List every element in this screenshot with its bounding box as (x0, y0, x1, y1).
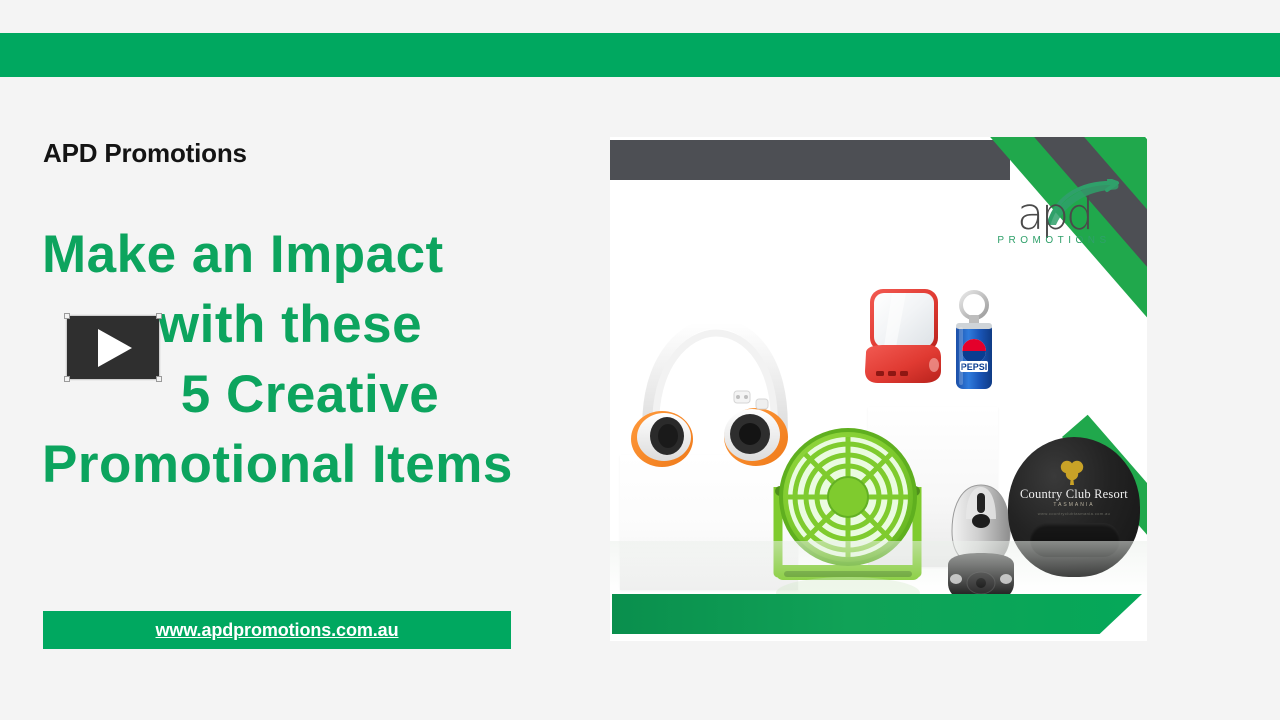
mouse-pad-product-image: Country Club Resort TASMANIA www.country… (1008, 437, 1147, 587)
play-triangle-icon (98, 329, 132, 367)
top-green-banner (0, 33, 1280, 77)
headline-line-1: Make an Impact (0, 220, 560, 290)
product-image-panel: apd PROMOTIONS (610, 137, 1147, 641)
website-url-bar[interactable]: www.apdpromotions.com.au (43, 611, 511, 649)
website-url-text[interactable]: www.apdpromotions.com.au (156, 620, 399, 641)
selection-handle-top-left[interactable] (64, 313, 70, 319)
video-play-button[interactable] (64, 313, 162, 382)
compact-mirror-case-product-image (862, 287, 944, 395)
selection-handle-bottom-left[interactable] (64, 376, 70, 382)
headline-line-4: Promotional Items (0, 430, 560, 500)
clover-logo-icon (1058, 459, 1086, 485)
pepsi-wordmark: PEPSI (961, 362, 988, 372)
selection-handle-top-right[interactable] (156, 313, 162, 319)
product-collage: PEPSI (610, 137, 1147, 641)
mouse-pad-print-subtitle: TASMANIA (1008, 502, 1140, 508)
pepsi-can-keyring-product-image: PEPSI (950, 289, 998, 397)
selection-handle-bottom-right[interactable] (156, 376, 162, 382)
mouse-pad-print-title: Country Club Resort (1008, 487, 1140, 502)
left-text-column: APD Promotions Make an Impact with these… (0, 120, 600, 680)
mouse-pad-wrist-rest (1030, 523, 1120, 557)
mouse-pad-print-url: www.countryclubtasmania.com.au (1008, 511, 1140, 516)
brand-name: APD Promotions (43, 138, 247, 169)
panel-bottom-green-band (612, 594, 1142, 634)
usb-desk-fan-product-image (760, 425, 935, 615)
